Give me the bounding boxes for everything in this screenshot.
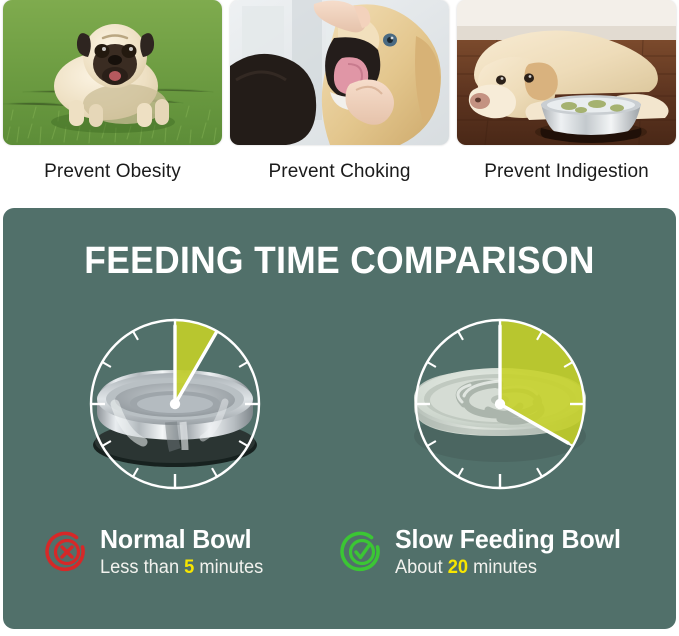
slow-feeding-bowl-dial — [400, 304, 600, 504]
photo-prevent-indigestion[interactable] — [457, 0, 676, 145]
benefit-caption: Prevent Choking — [269, 161, 411, 183]
photo-prevent-choking[interactable] — [230, 0, 449, 145]
benefit-card-indigestion[interactable]: Prevent Indigestion — [457, 0, 676, 196]
result-sub-number: 5 — [184, 557, 194, 578]
result-sub-prefix: About — [395, 557, 448, 578]
clock-face-5-minutes — [75, 304, 275, 504]
benefit-card-obesity[interactable]: Prevent Obesity — [3, 0, 222, 196]
benefit-caption: Prevent Indigestion — [484, 161, 649, 183]
photo-prevent-obesity[interactable] — [3, 0, 222, 145]
result-title: Slow Feeding Bowl — [395, 526, 621, 554]
overweight-pug-on-grass-photo — [3, 0, 222, 145]
result-normal-bowl: Normal Bowl Less than 5 minutes — [45, 526, 270, 579]
normal-bowl-dial — [75, 304, 275, 504]
result-title: Normal Bowl — [100, 526, 263, 554]
benefit-caption: Prevent Obesity — [44, 161, 181, 183]
labrador-lying-beside-steel-bowl-photo — [457, 0, 676, 145]
result-subtitle: Less than 5 minutes — [100, 556, 263, 580]
result-sub-prefix: Less than — [100, 557, 184, 578]
panel-title: FEEDING TIME COMPARISON — [27, 240, 653, 283]
result-text: Normal Bowl Less than 5 minutes — [100, 526, 270, 579]
result-sub-number: 20 — [448, 557, 468, 578]
result-sub-suffix: minutes — [194, 557, 263, 578]
result-slow-feeding-bowl: Slow Feeding Bowl About 20 minutes — [340, 526, 630, 579]
benefits-strip: Prevent Obesity — [0, 0, 679, 196]
x-circle-icon — [45, 530, 89, 574]
check-circle-icon — [340, 530, 384, 574]
result-subtitle: About 20 minutes — [395, 556, 621, 580]
result-sub-suffix: minutes — [468, 557, 537, 578]
clock-face-20-minutes — [400, 304, 600, 504]
person-checking-dog-mouth-photo — [230, 0, 449, 145]
result-text: Slow Feeding Bowl About 20 minutes — [395, 526, 630, 579]
feeding-time-comparison-panel: FEEDING TIME COMPARISON — [3, 208, 676, 629]
benefit-card-choking[interactable]: Prevent Choking — [230, 0, 449, 196]
